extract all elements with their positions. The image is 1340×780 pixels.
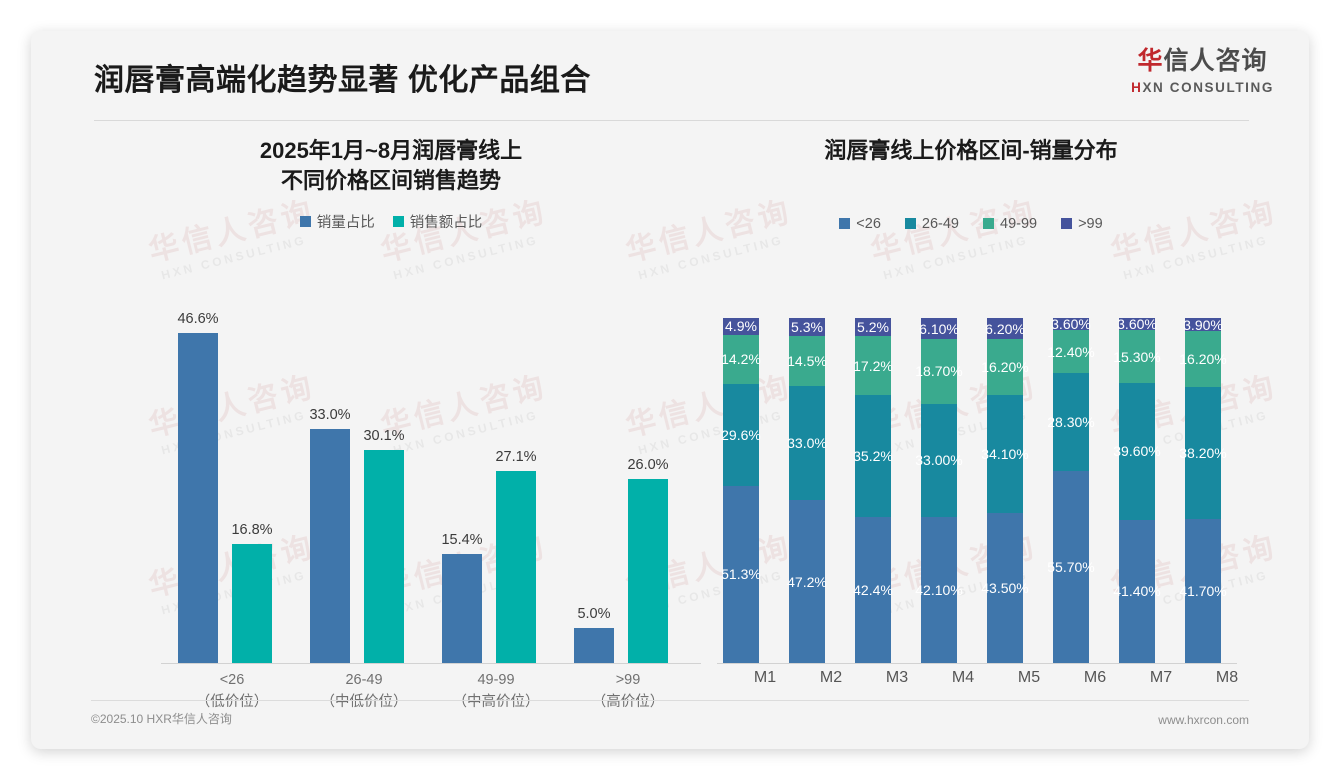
stacked-bar-segment-label: 42.10% bbox=[915, 582, 962, 598]
legend-item-left-0[interactable]: 销量占比 bbox=[300, 211, 375, 232]
left-chart-title-line2: 不同价格区间销售趋势 bbox=[91, 166, 691, 196]
stacked-bar-segment-label: 51.3% bbox=[721, 566, 761, 582]
stacked-bar-segment[interactable]: 6.10% bbox=[921, 318, 957, 339]
right-chart-plot: 4.9%14.2%29.6%51.3%5.3%14.5%33.0%47.2%5.… bbox=[693, 303, 1249, 665]
stacked-bar[interactable]: 4.9%14.2%29.6%51.3% bbox=[723, 318, 759, 663]
footer-divider bbox=[91, 700, 1249, 701]
stacked-bar-segment-label: 12.40% bbox=[1047, 344, 1094, 360]
stacked-bar-segment[interactable]: 12.40% bbox=[1053, 330, 1089, 373]
right-x-axis-label: M7 bbox=[1131, 669, 1191, 687]
left-x-axis-label-range: >99 bbox=[569, 669, 687, 691]
left-x-axis-label: <26（低价位） bbox=[173, 669, 291, 714]
left-bar-group-bars: 33.0%30.1% bbox=[298, 303, 416, 663]
legend-item-left-1[interactable]: 销售额占比 bbox=[393, 211, 483, 232]
stacked-bar-segment-label: 5.2% bbox=[857, 319, 889, 335]
logo-english-text: HXN CONSULTING bbox=[1131, 81, 1274, 95]
left-x-axis-label: >99（高价位） bbox=[569, 669, 687, 714]
stacked-bar-segment[interactable]: 43.50% bbox=[987, 513, 1023, 663]
left-chart-panel: 2025年1月~8月润唇膏线上 不同价格区间销售趋势 销量占比销售额占比 bbox=[91, 136, 691, 232]
stacked-bar-segment[interactable]: 35.2% bbox=[855, 395, 891, 516]
stacked-bar-segment[interactable]: 29.6% bbox=[723, 384, 759, 486]
right-chart-x-labels: M1M2M3M4M5M6M7M8 bbox=[717, 669, 1237, 699]
stacked-bar-segment-label: 28.30% bbox=[1047, 414, 1094, 430]
stacked-bar-segment[interactable]: 41.70% bbox=[1185, 519, 1221, 663]
right-x-axis-label: M3 bbox=[867, 669, 927, 687]
left-bar-group-bars: 46.6%16.8% bbox=[166, 303, 284, 663]
right-chart-bars-area: 4.9%14.2%29.6%51.3%5.3%14.5%33.0%47.2%5.… bbox=[693, 303, 1249, 664]
footer-website: www.hxrcon.com bbox=[1158, 713, 1249, 727]
left-x-axis-label-range: <26 bbox=[173, 669, 291, 691]
stacked-bar[interactable]: 6.20%16.20%34.10%43.50% bbox=[987, 318, 1023, 663]
stacked-bar-segment[interactable]: 41.40% bbox=[1119, 520, 1155, 663]
stacked-bar-segment-label: 41.70% bbox=[1179, 583, 1226, 599]
right-chart-x-axis bbox=[717, 663, 1237, 664]
stacked-bar-segment[interactable]: 39.60% bbox=[1119, 383, 1155, 520]
watermark-english: HXN CONSULTING bbox=[882, 230, 1044, 282]
left-chart-title: 2025年1月~8月润唇膏线上 不同价格区间销售趋势 bbox=[91, 136, 691, 195]
legend-item-right-2[interactable]: 49-99 bbox=[983, 216, 1037, 232]
stacked-bar-segment-label: 47.2% bbox=[787, 574, 827, 590]
legend-item-label: 销售额占比 bbox=[410, 211, 483, 232]
left-bar-item[interactable]: 27.1% bbox=[496, 303, 536, 663]
legend-item-label: <26 bbox=[856, 216, 881, 232]
left-x-axis-label-tier: （中高价位） bbox=[437, 691, 555, 713]
stacked-bar-segment[interactable]: 3.60% bbox=[1053, 318, 1089, 330]
stacked-bar-segment-label: 15.30% bbox=[1113, 349, 1160, 365]
legend-item-right-3[interactable]: >99 bbox=[1061, 216, 1103, 232]
stacked-bar[interactable]: 6.10%18.70%33.00%42.10% bbox=[921, 318, 957, 663]
left-x-axis-label-range: 49-99 bbox=[437, 669, 555, 691]
stacked-bar-segment-label: 38.20% bbox=[1179, 445, 1226, 461]
slide-header: 润唇膏高端化趋势显著 优化产品组合 华信人咨询 HXN CONSULTING bbox=[31, 31, 1309, 121]
stacked-bar[interactable]: 3.60%12.40%28.30%55.70% bbox=[1053, 318, 1089, 663]
stacked-bar[interactable]: 5.3%14.5%33.0%47.2% bbox=[789, 318, 825, 663]
left-bar-group: 5.0%26.0% bbox=[562, 303, 680, 663]
stacked-bar-segment-label: 14.5% bbox=[787, 353, 827, 369]
left-bar-group-bars: 5.0%26.0% bbox=[562, 303, 680, 663]
stacked-bar[interactable]: 3.90%16.20%38.20%41.70% bbox=[1185, 318, 1221, 663]
stacked-bar-segment-label: 39.60% bbox=[1113, 443, 1160, 459]
stacked-bar-segment-label: 4.9% bbox=[725, 318, 757, 334]
legend-item-label: >99 bbox=[1078, 216, 1103, 232]
legend-swatch-icon bbox=[839, 218, 850, 229]
left-bar-value-label: 5.0% bbox=[577, 606, 610, 622]
stacked-bar-segment[interactable]: 55.70% bbox=[1053, 471, 1089, 663]
stacked-bar-segment[interactable]: 18.70% bbox=[921, 339, 957, 404]
left-bar-rect[interactable] bbox=[310, 429, 350, 663]
stacked-bar-segment-label: 18.70% bbox=[915, 363, 962, 379]
left-bar-group: 33.0%30.1% bbox=[298, 303, 416, 663]
stacked-bar-segment-label: 55.70% bbox=[1047, 559, 1094, 575]
legend-item-right-1[interactable]: 26-49 bbox=[905, 216, 959, 232]
logo-english-rest: XN CONSULTING bbox=[1142, 80, 1274, 95]
left-bar-rect[interactable] bbox=[232, 544, 272, 663]
left-bar-item[interactable]: 33.0% bbox=[310, 303, 350, 663]
stacked-bar-segment[interactable]: 6.20% bbox=[987, 318, 1023, 339]
stacked-bar-segment[interactable]: 38.20% bbox=[1185, 387, 1221, 519]
left-bar-value-label: 30.1% bbox=[363, 428, 404, 444]
stacked-bar-segment-label: 6.10% bbox=[919, 321, 959, 337]
header-divider bbox=[94, 120, 1249, 121]
legend-swatch-icon bbox=[300, 216, 311, 227]
stacked-bar-segment-label: 34.10% bbox=[981, 446, 1028, 462]
left-chart-x-labels: <26（低价位）26-49（中低价位）49-99（中高价位）>99（高价位） bbox=[166, 669, 694, 729]
left-chart-plot: 46.6%16.8%33.0%30.1%15.4%27.1%5.0%26.0% … bbox=[91, 303, 703, 665]
stacked-bar-segment[interactable]: 14.5% bbox=[789, 336, 825, 386]
left-bar-rect[interactable] bbox=[178, 333, 218, 663]
stacked-bar-segment-label: 16.20% bbox=[981, 359, 1028, 375]
watermark-english: HXN CONSULTING bbox=[160, 230, 322, 282]
left-chart-title-line1: 2025年1月~8月润唇膏线上 bbox=[91, 136, 691, 166]
stacked-bar-segment[interactable]: 3.60% bbox=[1119, 318, 1155, 330]
left-bar-rect[interactable] bbox=[364, 450, 404, 663]
left-bar-rect[interactable] bbox=[574, 628, 614, 663]
right-x-axis-label: M6 bbox=[1065, 669, 1125, 687]
page-title: 润唇膏高端化趋势显著 优化产品组合 bbox=[94, 55, 591, 99]
stacked-bar-segment[interactable]: 4.9% bbox=[723, 318, 759, 335]
right-chart-title: 润唇膏线上价格区间-销量分布 bbox=[693, 136, 1249, 166]
stacked-bar-segment-label: 33.00% bbox=[915, 452, 962, 468]
stacked-bar-segment-label: 6.20% bbox=[985, 321, 1025, 337]
stacked-bar-segment[interactable]: 17.2% bbox=[855, 336, 891, 395]
left-bar-group: 15.4%27.1% bbox=[430, 303, 548, 663]
left-bar-item[interactable]: 15.4% bbox=[442, 303, 482, 663]
left-bar-item[interactable]: 5.0% bbox=[574, 303, 614, 663]
left-bar-value-label: 16.8% bbox=[231, 522, 272, 538]
stacked-bar-segment[interactable]: 42.10% bbox=[921, 517, 957, 662]
stacked-bar-segment[interactable]: 51.3% bbox=[723, 486, 759, 663]
right-x-axis-label: M5 bbox=[999, 669, 1059, 687]
stacked-bar-segment-label: 3.90% bbox=[1183, 317, 1223, 333]
left-bar-item[interactable]: 26.0% bbox=[628, 303, 668, 663]
stacked-bar[interactable]: 5.2%17.2%35.2%42.4% bbox=[855, 318, 891, 663]
left-bar-item[interactable]: 46.6% bbox=[178, 303, 218, 663]
legend-item-label: 26-49 bbox=[922, 216, 959, 232]
stacked-bar-segment-label: 29.6% bbox=[721, 427, 761, 443]
left-x-axis-label-range: 26-49 bbox=[305, 669, 423, 691]
watermark-english: HXN CONSULTING bbox=[1122, 230, 1284, 282]
company-logo: 华信人咨询 HXN CONSULTING bbox=[1131, 49, 1274, 95]
stacked-bar-segment-label: 42.4% bbox=[853, 582, 893, 598]
right-chart-panel: 润唇膏线上价格区间-销量分布 <2626-4949-99>99 bbox=[693, 136, 1249, 232]
logo-chinese-text: 华信人咨询 bbox=[1131, 49, 1274, 74]
stacked-bar-segment[interactable]: 16.20% bbox=[1185, 331, 1221, 387]
left-bar-rect[interactable] bbox=[442, 554, 482, 663]
right-x-axis-label: M1 bbox=[735, 669, 795, 687]
left-chart-x-axis bbox=[161, 663, 701, 664]
left-bar-group-bars: 15.4%27.1% bbox=[430, 303, 548, 663]
legend-swatch-icon bbox=[1061, 218, 1072, 229]
left-bar-item[interactable]: 30.1% bbox=[364, 303, 404, 663]
left-bar-value-label: 26.0% bbox=[627, 457, 668, 473]
left-bar-item[interactable]: 16.8% bbox=[232, 303, 272, 663]
legend-item-label: 销量占比 bbox=[317, 211, 375, 232]
watermark-english: HXN CONSULTING bbox=[637, 230, 799, 282]
left-x-axis-label-tier: （中低价位） bbox=[305, 691, 423, 713]
right-x-axis-label: M2 bbox=[801, 669, 861, 687]
stacked-bar-segment-label: 43.50% bbox=[981, 580, 1028, 596]
legend-item-right-0[interactable]: <26 bbox=[839, 216, 881, 232]
legend-swatch-icon bbox=[393, 216, 404, 227]
stacked-bar-segment-label: 14.2% bbox=[721, 351, 761, 367]
stacked-bar-segment-label: 35.2% bbox=[853, 448, 893, 464]
left-chart-legend: 销量占比销售额占比 bbox=[91, 211, 691, 232]
left-bar-rect[interactable] bbox=[628, 479, 668, 663]
stacked-bar-segment[interactable]: 42.4% bbox=[855, 517, 891, 663]
stacked-bar-segment-label: 16.20% bbox=[1179, 351, 1226, 367]
stacked-bar-segment[interactable]: 5.3% bbox=[789, 318, 825, 336]
stacked-bar-segment[interactable]: 47.2% bbox=[789, 500, 825, 663]
stacked-bar-segment-label: 41.40% bbox=[1113, 583, 1160, 599]
logo-chinese-rest: 信人咨询 bbox=[1164, 47, 1268, 75]
logo-chinese-red-char: 华 bbox=[1138, 47, 1164, 75]
stacked-bar-segment[interactable]: 28.30% bbox=[1053, 373, 1089, 471]
watermark-english: HXN CONSULTING bbox=[392, 230, 554, 282]
footer-copyright: ©2025.10 HXR华信人咨询 bbox=[91, 710, 232, 727]
right-x-axis-label: M4 bbox=[933, 669, 993, 687]
logo-english-red-char: H bbox=[1131, 80, 1142, 95]
left-x-axis-label: 49-99（中高价位） bbox=[437, 669, 555, 714]
stacked-bar-segment[interactable]: 16.20% bbox=[987, 339, 1023, 395]
stacked-bar-segment-label: 33.0% bbox=[787, 435, 827, 451]
left-bar-value-label: 46.6% bbox=[177, 311, 218, 327]
stacked-bar-segment[interactable]: 5.2% bbox=[855, 318, 891, 336]
legend-item-label: 49-99 bbox=[1000, 216, 1037, 232]
stacked-bar-segment[interactable]: 15.30% bbox=[1119, 330, 1155, 383]
slide-card: 润唇膏高端化趋势显著 优化产品组合 华信人咨询 HXN CONSULTING 华… bbox=[31, 31, 1309, 749]
left-bar-rect[interactable] bbox=[496, 471, 536, 663]
left-x-axis-label: 26-49（中低价位） bbox=[305, 669, 423, 714]
stacked-bar[interactable]: 3.60%15.30%39.60%41.40% bbox=[1119, 318, 1155, 663]
stacked-bar-segment[interactable]: 33.00% bbox=[921, 404, 957, 518]
stacked-bar-segment-label: 17.2% bbox=[853, 358, 893, 374]
stacked-bar-segment[interactable]: 34.10% bbox=[987, 395, 1023, 513]
right-chart-legend: <2626-4949-99>99 bbox=[693, 216, 1249, 232]
legend-swatch-icon bbox=[905, 218, 916, 229]
left-bar-value-label: 15.4% bbox=[441, 532, 482, 548]
left-bar-value-label: 33.0% bbox=[309, 407, 350, 423]
stacked-bar-segment-label: 5.3% bbox=[791, 319, 823, 335]
left-bar-group: 46.6%16.8% bbox=[166, 303, 284, 663]
left-chart-bars-area: 46.6%16.8%33.0%30.1%15.4%27.1%5.0%26.0% bbox=[166, 303, 694, 663]
stacked-bar-segment[interactable]: 3.90% bbox=[1185, 318, 1221, 331]
left-bar-value-label: 27.1% bbox=[495, 449, 536, 465]
stacked-bar-segment[interactable]: 14.2% bbox=[723, 335, 759, 384]
legend-swatch-icon bbox=[983, 218, 994, 229]
stacked-bar-segment[interactable]: 33.0% bbox=[789, 386, 825, 500]
right-x-axis-label: M8 bbox=[1197, 669, 1257, 687]
left-x-axis-label-tier: （高价位） bbox=[569, 691, 687, 713]
